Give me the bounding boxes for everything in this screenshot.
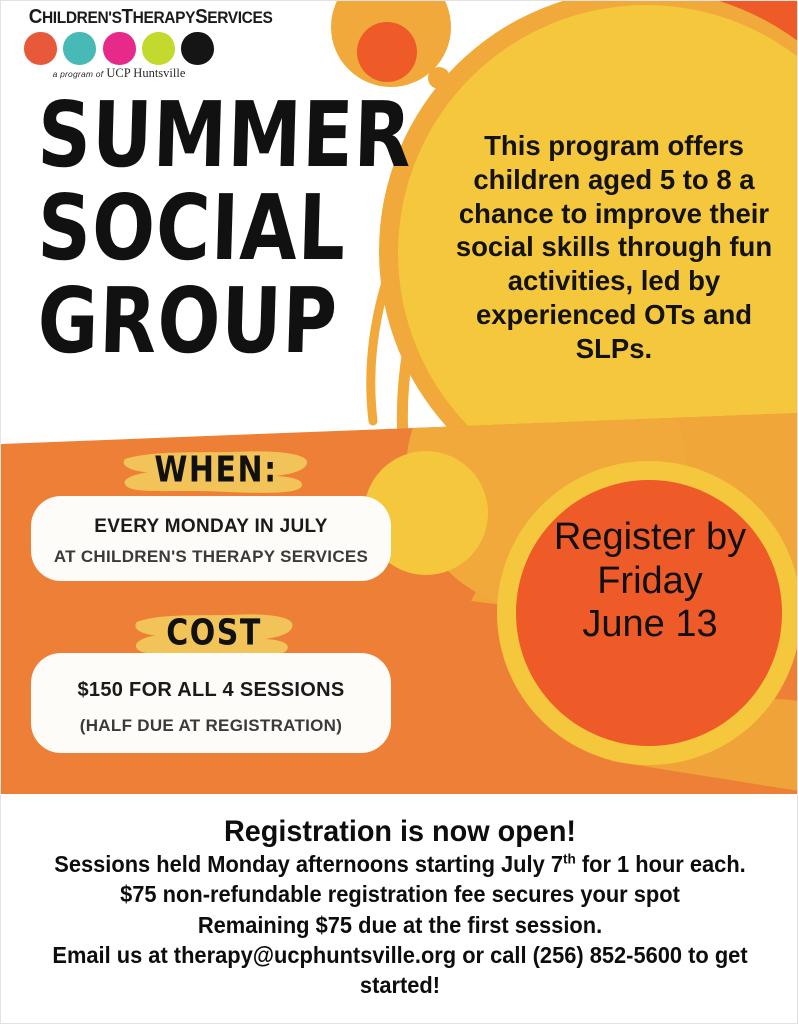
register-deadline: Register by Friday June 13 (519, 516, 781, 647)
deco-circle-yellow-top (331, 1, 451, 87)
register-line-1: Register by (519, 516, 781, 560)
corner-wedge-red (701, 1, 797, 121)
footer-line-1a: Sessions held Monday afternoons starting… (54, 851, 563, 877)
cost-card: $150 FOR ALL 4 SESSIONS (HALF DUE AT REG… (31, 653, 391, 753)
title-line-1: SUMMER (37, 93, 379, 180)
when-heading: WHEN: (111, 446, 321, 497)
footer-headline: Registration is now open! (17, 815, 783, 849)
cost-heading-label: COST (166, 613, 262, 654)
footer-line-1b: for 1 hour each. (576, 851, 746, 877)
cost-line-1: $150 FOR ALL 4 SESSIONS (31, 679, 391, 702)
dot-lime (142, 32, 175, 65)
footer-line-2: $75 non-refundable registration fee secu… (21, 879, 779, 909)
footer-line-3: Remaining $75 due at the first session. (21, 910, 779, 940)
title-line-3: GROUP (37, 279, 379, 366)
dot-orange (24, 32, 57, 65)
register-line-3: June 13 (519, 603, 781, 647)
dot-magenta (103, 32, 136, 65)
logo-wordmark: CHILDREN'STHERAPYSERVICES (29, 7, 209, 27)
deco-circle-small-top (428, 67, 450, 89)
dot-black (181, 32, 214, 65)
footer-line-1: Sessions held Monday afternoons starting… (21, 849, 779, 879)
when-brush-highlight: WHEN: (120, 446, 311, 497)
cost-line-2: (HALF DUE AT REGISTRATION) (31, 716, 391, 736)
logo: CHILDREN'STHERAPYSERVICES a program of U… (23, 7, 215, 80)
footer-line-1-ordinal: th (563, 851, 576, 867)
flyer-page: CHILDREN'STHERAPYSERVICES a program of U… (0, 0, 798, 1024)
when-line-1: EVERY MONDAY IN JULY (31, 516, 391, 538)
logo-tagline-name: UCP Huntsville (106, 66, 185, 80)
when-line-2: AT CHILDREN'S THERAPY SERVICES (31, 547, 391, 567)
deco-circle-red-top (357, 22, 417, 82)
when-card: EVERY MONDAY IN JULY AT CHILDREN'S THERA… (31, 496, 391, 581)
footer-details: Registration is now open! Sessions held … (1, 798, 798, 1024)
logo-tagline-prefix: a program of (53, 69, 104, 79)
register-line-2: Friday (519, 560, 781, 604)
program-description: This program offers children aged 5 to 8… (453, 129, 775, 366)
page-title: SUMMER SOCIAL GROUP (39, 93, 379, 372)
footer-contact-line: Email us at therapy@ucphuntsville.org or… (21, 940, 779, 1001)
logo-tagline: a program of UCP Huntsville (23, 67, 215, 80)
dot-teal (63, 32, 96, 65)
footer-spacer (1, 1001, 798, 1024)
logo-dots (24, 32, 214, 65)
when-heading-label: WHEN: (154, 450, 277, 491)
title-line-2: SOCIAL (37, 186, 379, 273)
